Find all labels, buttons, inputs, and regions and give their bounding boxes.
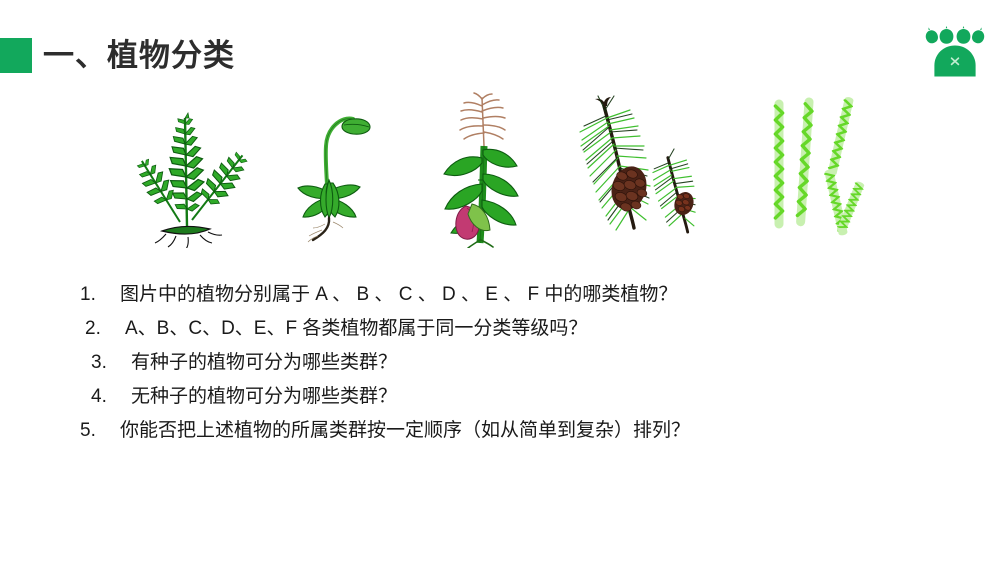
slide-title-bar: 一、植物分类 [0, 36, 235, 74]
question-item-2: 2. A、B、C、D、E、F 各类植物都属于同一分类等级吗？ [80, 312, 940, 346]
question-item-1: 1. 图片中的植物分别属于 A 、 B 、 C 、 D 、 E 、 F 中的哪类… [80, 278, 940, 312]
page-title: 一、植物分类 [43, 40, 235, 71]
moss-plant-image [281, 88, 386, 248]
question-list: 1. 图片中的植物分别属于 A 、 B 、 C 、 D 、 E 、 F 中的哪类… [80, 278, 940, 448]
question-item-4: 4. 无种子的植物可分为哪些类群？ [80, 380, 940, 414]
question-number-5: 5. [80, 414, 120, 448]
paw-print-logo [924, 26, 986, 78]
fern-plant-image [130, 88, 250, 248]
question-number-2: 2. [85, 312, 125, 346]
question-text-2: A、B、C、D、E、F 各类植物都属于同一分类等级吗？ [125, 312, 940, 346]
question-text-3: 有种子的植物可分为哪些类群？ [131, 346, 940, 380]
question-number-3: 3. [91, 346, 131, 380]
question-number-1: 1. [80, 278, 120, 312]
question-text-5: 你能否把上述植物的所属类群按一定顺序（如从简单到复杂）排列？ [120, 414, 940, 448]
question-text-4: 无种子的植物可分为哪些类群？ [131, 380, 940, 414]
slide-canvas: 一、植物分类 [0, 0, 1000, 563]
question-item-5: 5. 你能否把上述植物的所属类群按一定顺序（如从简单到复杂）排列？ [80, 414, 940, 448]
plant-illustration-row [130, 88, 875, 248]
question-number-4: 4. [91, 380, 131, 414]
corn-plant-image [418, 88, 543, 248]
green-square-accent [0, 38, 32, 73]
question-text-1: 图片中的植物分别属于 A 、 B 、 C 、 D 、 E 、 F 中的哪类植物？ [120, 278, 940, 312]
pine-branch-image [574, 88, 734, 248]
spirogyra-algae-image [765, 88, 875, 248]
question-item-3: 3. 有种子的植物可分为哪些类群？ [80, 346, 940, 380]
